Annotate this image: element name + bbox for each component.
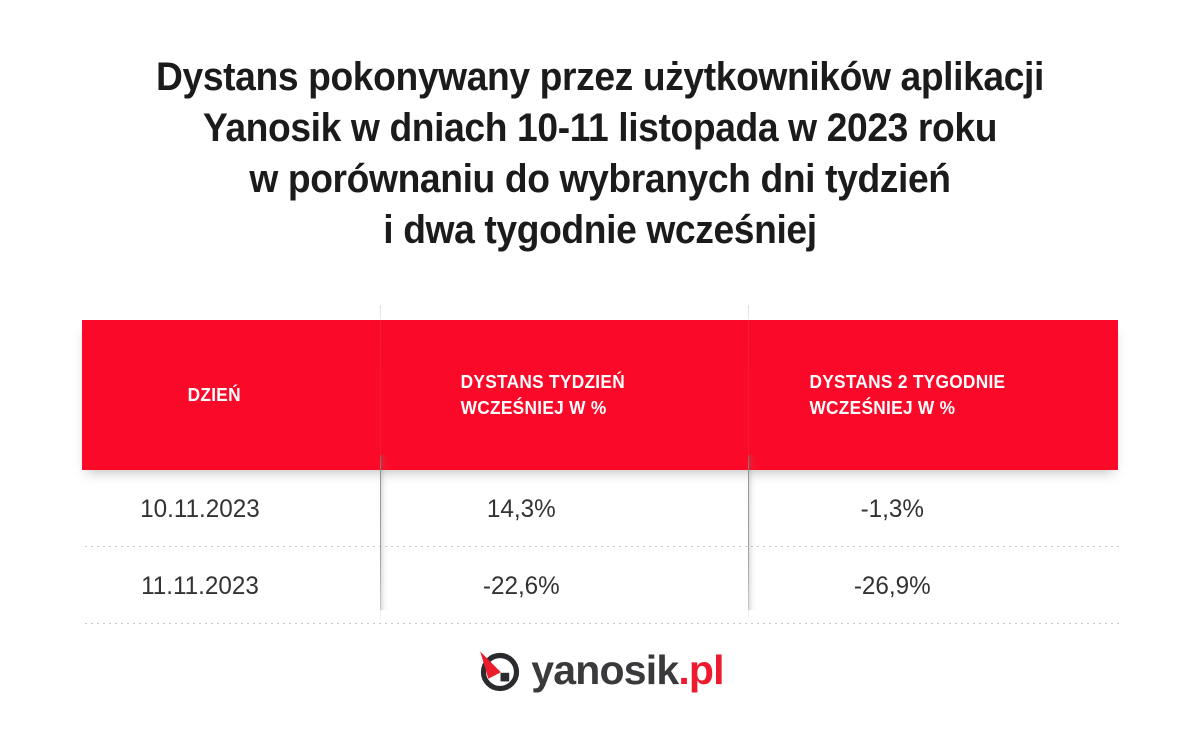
cell-day: 11.11.2023 (86, 571, 375, 601)
table-row: 10.11.2023 14,3% -1,3% (82, 470, 1118, 547)
title-line-4: i dwa tygodnie wcześniej (42, 205, 1158, 256)
column-header-week-earlier-line2: WCZEŚNIEJ W % (461, 398, 607, 418)
cell-two-weeks-earlier: -26,9% (754, 571, 1113, 601)
column-header-two-weeks-earlier-line1: DYSTANS 2 TYGODNIE (809, 372, 1005, 392)
logo-wordmark: yanosik.pl (531, 648, 724, 692)
page-title: Dystans pokonywany przez użytkowników ap… (0, 52, 1200, 256)
column-header-week-earlier: DYSTANS TYDZIEŃ WCZEŚNIEJ W % (380, 369, 733, 421)
column-header-day-label: DZIEŃ (188, 385, 241, 405)
table-header-row: DZIEŃ DYSTANS TYDZIEŃ WCZEŚNIEJ W % DYST… (82, 320, 1118, 470)
table-body: 10.11.2023 14,3% -1,3% 11.11.2023 -22,6%… (82, 470, 1118, 624)
cell-two-weeks-earlier: -1,3% (754, 494, 1113, 524)
column-header-day: DZIEŃ (82, 382, 368, 408)
logo-name: yanosik (531, 647, 678, 693)
table-row: 11.11.2023 -22,6% -26,9% (82, 547, 1118, 624)
title-line-1: Dystans pokonywany przez użytkowników ap… (42, 52, 1158, 103)
title-line-2: Yanosik w dniach 10-11 listopada w 2023 … (42, 103, 1158, 154)
title-line-3: w porównaniu do wybranych dni tydzień (42, 154, 1158, 205)
logo-tld: .pl (678, 647, 723, 693)
yanosik-mark-icon (476, 648, 520, 692)
cell-day: 10.11.2023 (86, 494, 375, 524)
brand-logo: yanosik.pl (0, 648, 1200, 692)
column-header-two-weeks-earlier: DYSTANS 2 TYGODNIE WCZEŚNIEJ W % (748, 369, 1103, 421)
column-header-week-earlier-line1: DYSTANS TYDZIEŃ (461, 372, 625, 392)
cell-week-earlier: 14,3% (386, 494, 743, 524)
column-header-two-weeks-earlier-line2: WCZEŚNIEJ W % (809, 398, 955, 418)
comparison-table: DZIEŃ DYSTANS TYDZIEŃ WCZEŚNIEJ W % DYST… (82, 320, 1118, 624)
cell-week-earlier: -22,6% (386, 571, 743, 601)
